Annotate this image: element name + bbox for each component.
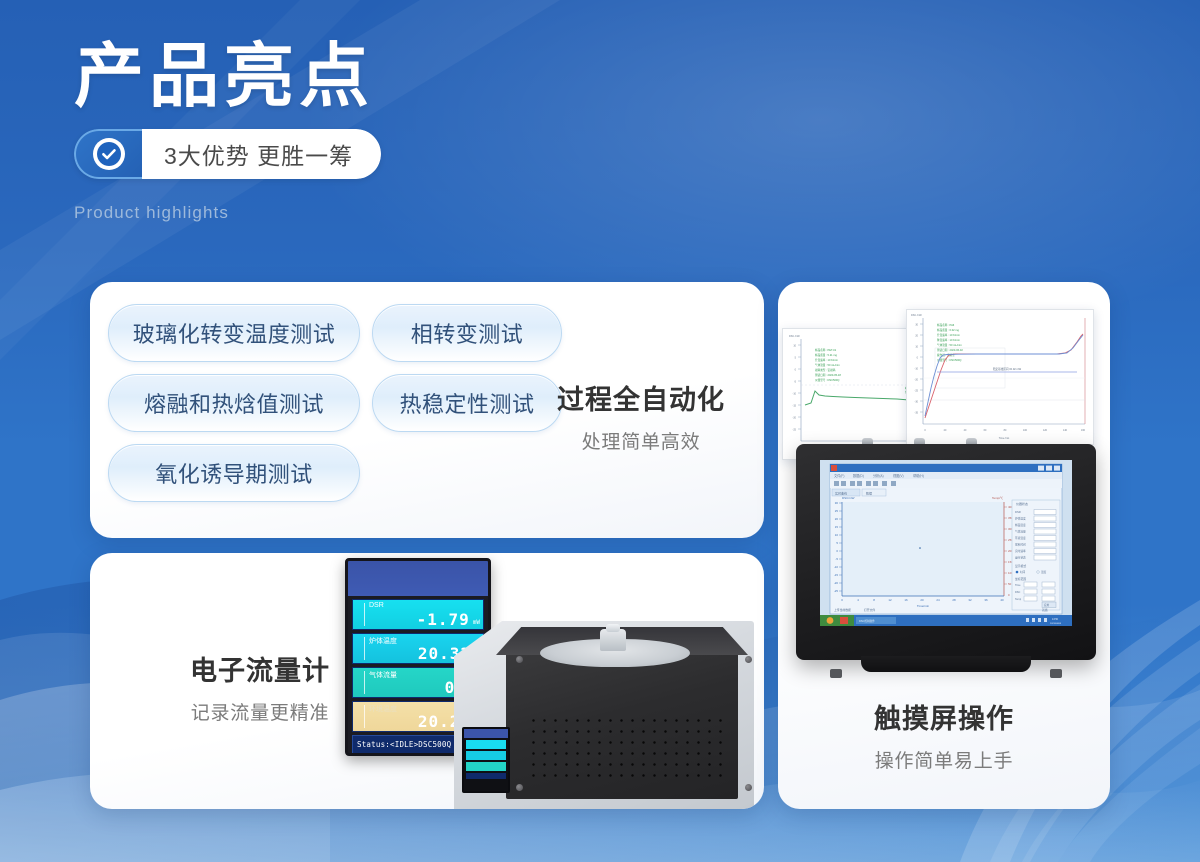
- mini-display-status: [466, 773, 506, 779]
- svg-text:实时速率: 实时速率: [1015, 549, 1026, 553]
- svg-text:气体流量: 气体流量: [1015, 530, 1026, 534]
- page-header: 产品亮点 3大优势 更胜一筹 Product highlights: [74, 40, 714, 223]
- svg-text:DSC控制软件: DSC控制软件: [859, 619, 875, 623]
- feature-pill-group: 玻璃化转变温度测试 相转变测试 熔融和热焓值测试 热稳定性测试 氧化诱导期测试: [108, 304, 564, 514]
- pill-thermal-stability[interactable]: 热稳定性测试: [372, 374, 562, 432]
- touchscreen-monitor[interactable]: 文件(F)数据(D) 分析(A)视图(V) 帮助(H) 实时曲线数据: [796, 444, 1096, 660]
- svg-text:140: 140: [1063, 429, 1068, 432]
- svg-text:应用: 应用: [1044, 603, 1050, 607]
- svg-text:测试日期 : 2023-06-02: 测试日期 : 2023-06-02: [937, 348, 963, 352]
- pill-phase-transition[interactable]: 相转变测试: [372, 304, 562, 362]
- pill-glass-transition[interactable]: 玻璃化转变温度测试: [108, 304, 360, 362]
- svg-text:文件(F): 文件(F): [834, 473, 844, 478]
- features-caption: 过程全自动化 处理简单高效: [546, 378, 736, 454]
- svg-text:30: 30: [835, 501, 839, 505]
- pill-row-1: 玻璃化转变温度测试 相转变测试: [108, 304, 564, 362]
- svg-text:上传当前数据: 上传当前数据: [834, 608, 851, 612]
- card-flowmeter: 电子流量计 记录流量更精准 DSR -1.79 mW 炉体温度 20.32 ℃ …: [90, 553, 764, 809]
- svg-text:-15: -15: [834, 573, 839, 577]
- svg-text:20: 20: [835, 517, 839, 521]
- svg-text:运行状态: 运行状态: [1015, 556, 1026, 560]
- svg-text:仪器型号 : DSC500Q: 仪器型号 : DSC500Q: [815, 378, 839, 382]
- mini-display-header: [464, 729, 508, 738]
- svg-text:帮助(H): 帮助(H): [913, 473, 924, 478]
- svg-text:24: 24: [936, 598, 940, 602]
- svg-text:数据: 数据: [866, 490, 872, 495]
- svg-text:25: 25: [835, 509, 839, 513]
- monitor-foot: [830, 669, 842, 678]
- page-subtitle: Product highlights: [74, 203, 714, 223]
- page-root: 产品亮点 3大优势 更胜一筹 Product highlights 玻璃化转变温…: [0, 0, 1200, 862]
- svg-text:样品名称 : PET-01: 样品名称 : PET-01: [815, 348, 837, 352]
- svg-text:13:50: 13:50: [1052, 618, 1059, 621]
- dsc-curve-screenshot-red-blue: 3020 100 -10-20 -25-30 -35 020 4060 8010…: [906, 309, 1094, 445]
- svg-text:DSC: DSC: [1015, 591, 1020, 594]
- instrument-screw: [745, 784, 752, 791]
- badge-icon-holder: [74, 129, 142, 179]
- svg-text:气体流量 : 50 mL/min: 气体流量 : 50 mL/min: [815, 363, 840, 367]
- svg-text:DSR: DSR: [1015, 510, 1021, 514]
- svg-text:120: 120: [1043, 429, 1048, 432]
- svg-text:样品名称 : PA6: 样品名称 : PA6: [937, 323, 955, 327]
- svg-text:12: 12: [888, 598, 892, 602]
- touchscreen-caption-title: 触摸屏操作: [778, 697, 1110, 736]
- readout-furnace-temp-label: 炉体温度: [369, 636, 397, 646]
- dsc-instrument-photo: [440, 587, 764, 809]
- svg-text:15: 15: [835, 525, 839, 529]
- svg-text:样品质量 : 5.21 mg: 样品质量 : 5.21 mg: [815, 353, 837, 357]
- svg-text:16: 16: [904, 598, 908, 602]
- svg-text:炉体温度: 炉体温度: [1015, 517, 1026, 521]
- svg-text:实时曲线: 实时曲线: [835, 490, 847, 495]
- monitor-stand: [861, 656, 1031, 672]
- touchscreen-caption: 触摸屏操作 操作简单易上手: [778, 697, 1110, 773]
- svg-text:Temp: Temp: [1015, 598, 1022, 601]
- svg-text:测试日期 : 2023-05-18: 测试日期 : 2023-05-18: [815, 373, 841, 377]
- svg-text:Time/min: Time/min: [917, 604, 930, 608]
- svg-text:坩埚类型 : 铝坩埚: 坩埚类型 : 铝坩埚: [815, 368, 836, 372]
- readout-dsr-label: DSR: [369, 602, 384, 609]
- readout-ambient-temp-label: 环境温度: [369, 704, 397, 714]
- instrument-screw: [745, 656, 752, 663]
- instrument-knob: [600, 629, 626, 651]
- svg-text:视图(V): 视图(V): [893, 473, 904, 478]
- svg-text:时间: 时间: [1020, 570, 1026, 574]
- svg-text:气体流量 : 50 mL/min: 气体流量 : 50 mL/min: [937, 343, 962, 347]
- features-caption-title: 过程全自动化: [546, 378, 736, 417]
- pill-row-3: 氧化诱导期测试: [108, 444, 564, 502]
- pill-oxidation-induction[interactable]: 氧化诱导期测试: [108, 444, 360, 502]
- svg-text:仪器状态: 仪器状态: [1016, 501, 1028, 506]
- monitor-foot: [1050, 669, 1062, 678]
- svg-text:DSC /mW: DSC /mW: [789, 335, 800, 338]
- mini-display-row: [466, 740, 506, 749]
- advantage-badge: 3大优势 更胜一筹: [74, 129, 381, 179]
- pill-row-2: 熔融和热焓值测试 热稳定性测试: [108, 374, 564, 432]
- mini-display-row: [466, 762, 506, 771]
- mini-display-row: [466, 751, 506, 760]
- svg-text:DSC /mW: DSC /mW: [911, 314, 922, 317]
- instrument-vent-grid: [528, 715, 724, 777]
- svg-text:温度: 温度: [1041, 570, 1047, 574]
- svg-text:100: 100: [1023, 429, 1028, 432]
- svg-text:-25: -25: [834, 589, 839, 593]
- card-touchscreen: 105 0-5 -10-15 -20-25 DSC /mW Time/min 样…: [778, 282, 1110, 809]
- svg-text:10: 10: [835, 533, 839, 537]
- svg-text:Time: Time: [1015, 584, 1021, 587]
- svg-text:升温速率 : 10 K/min: 升温速率 : 10 K/min: [815, 358, 838, 362]
- page-title: 产品亮点: [74, 40, 714, 111]
- svg-text:20: 20: [920, 598, 924, 602]
- card-features: 玻璃化转变温度测试 相转变测试 熔融和热焓值测试 热稳定性测试 氧化诱导期测试 …: [90, 282, 764, 538]
- svg-text:样品质量 : 6.02 mg: 样品质量 : 6.02 mg: [937, 328, 959, 332]
- badge-label: 3大优势 更胜一筹: [142, 129, 381, 179]
- svg-text:32: 32: [968, 598, 972, 602]
- touchscreen-caption-sub: 操作简单易上手: [778, 746, 1110, 773]
- svg-text:环境温度: 环境温度: [1015, 536, 1026, 540]
- check-circle-icon: [93, 138, 125, 170]
- svg-text:坐标范围: 坐标范围: [1015, 577, 1026, 581]
- svg-text:-5: -5: [835, 557, 838, 561]
- svg-text:稳定基线区间 ±0.02 mW: 稳定基线区间 ±0.02 mW: [993, 367, 1022, 371]
- svg-text:仪器型号 : DSC500Q: 仪器型号 : DSC500Q: [937, 358, 961, 362]
- svg-text:28: 28: [952, 598, 956, 602]
- svg-text:DSC/mW: DSC/mW: [842, 496, 855, 500]
- readout-gas-flow-label: 气体流量: [369, 670, 397, 680]
- svg-text:36: 36: [984, 598, 988, 602]
- svg-text:160: 160: [1081, 429, 1086, 432]
- svg-text:-20: -20: [834, 581, 839, 585]
- svg-text:就绪: 就绪: [1042, 608, 1048, 612]
- svg-text:累积时间: 累积时间: [1015, 543, 1026, 547]
- svg-text:降温速率 : 10 K/min: 降温速率 : 10 K/min: [937, 338, 960, 342]
- instrument-mini-display: [462, 727, 510, 793]
- svg-text:数据(D): 数据(D): [853, 473, 864, 478]
- svg-text:40: 40: [1000, 598, 1004, 602]
- svg-text:升温速率 : 10 K/min: 升温速率 : 10 K/min: [937, 333, 960, 337]
- pill-melting-enthalpy[interactable]: 熔融和热焓值测试: [108, 374, 360, 432]
- svg-text:分析(A): 分析(A): [873, 473, 884, 478]
- svg-text:-10: -10: [834, 565, 839, 569]
- instrument-screw: [516, 784, 523, 791]
- monitor-screen[interactable]: 文件(F)数据(D) 分析(A)视图(V) 帮助(H) 实时曲线数据: [820, 460, 1072, 626]
- features-caption-sub: 处理简单高效: [546, 427, 736, 454]
- svg-text:2023/06/08: 2023/06/08: [1050, 623, 1062, 625]
- svg-text:50: 50: [1008, 582, 1012, 586]
- svg-text:显示模式: 显示模式: [1015, 564, 1026, 568]
- svg-text:Temp/℃: Temp/℃: [992, 496, 1003, 500]
- instrument-screw: [516, 656, 523, 663]
- svg-text:打开文件: 打开文件: [864, 608, 875, 612]
- svg-text:样品温度: 样品温度: [1015, 523, 1026, 527]
